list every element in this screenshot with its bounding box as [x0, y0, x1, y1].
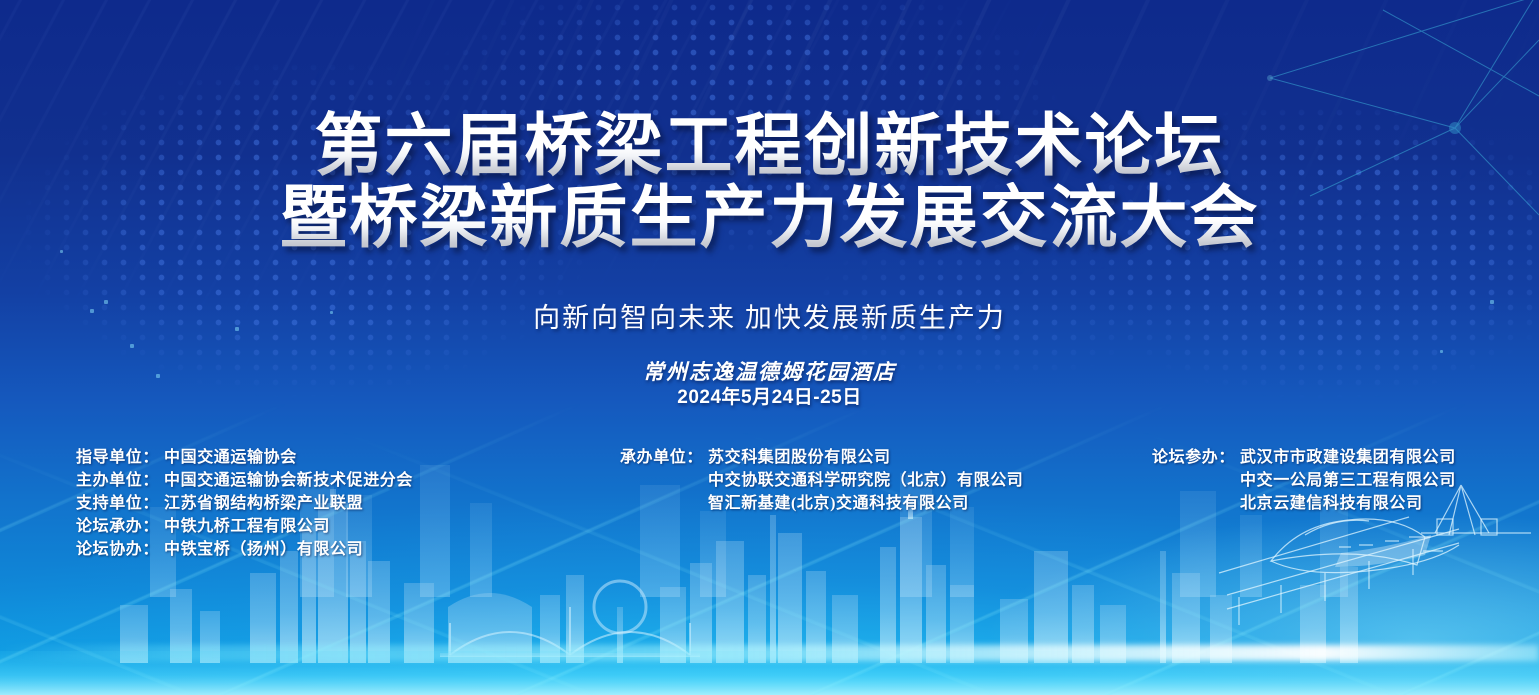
organizer-value: 中铁宝桥（扬州）有限公司 [164, 538, 363, 561]
organizer-column-middle: 承办单位： 苏交科集团股份有限公司 中交协联交通科学研究院（北京）有限公司 智汇… [620, 446, 1023, 515]
organizer-label: 支持单位： [76, 492, 164, 515]
organizer-label: 论坛协办： [76, 538, 164, 561]
organizer-label [1152, 492, 1240, 515]
organizer-row: 支持单位： 江苏省钢结构桥梁产业联盟 [76, 492, 413, 515]
title-line-2: 暨桥梁新质生产力发展交流大会 [0, 182, 1539, 254]
organizer-label: 论坛承办： [76, 515, 164, 538]
organizer-label: 指导单位： [76, 446, 164, 469]
organizer-row: 智汇新基建(北京)交通科技有限公司 [620, 492, 1023, 515]
organizer-row: 北京云建信科技有限公司 [1152, 492, 1456, 515]
organizer-label: 主办单位： [76, 469, 164, 492]
organizer-value: 中国交通运输协会 [164, 446, 297, 469]
subtitle: 向新向智向未来 加快发展新质生产力 [0, 296, 1539, 335]
organizer-column-right: 论坛参办： 武汉市市政建设集团有限公司 中交一公局第三工程有限公司 北京云建信科… [1152, 446, 1456, 515]
organizer-row: 承办单位： 苏交科集团股份有限公司 [620, 446, 1023, 469]
organizer-column-left: 指导单位： 中国交通运输协会 主办单位： 中国交通运输协会新技术促进分会 支持单… [76, 446, 413, 561]
title-line-1: 第六届桥梁工程创新技术论坛 [0, 110, 1539, 182]
organizer-value: 中交一公局第三工程有限公司 [1240, 469, 1456, 492]
organizer-value: 智汇新基建(北京)交通科技有限公司 [708, 492, 969, 515]
conference-banner: 第六届桥梁工程创新技术论坛 暨桥梁新质生产力发展交流大会 向新向智向未来 加快发… [0, 0, 1539, 695]
organizer-label [620, 469, 708, 492]
organizer-row: 中交一公局第三工程有限公司 [1152, 469, 1456, 492]
organizer-value: 中交协联交通科学研究院（北京）有限公司 [708, 469, 1023, 492]
organizer-value: 武汉市市政建设集团有限公司 [1240, 446, 1456, 469]
organizer-value: 北京云建信科技有限公司 [1240, 492, 1423, 515]
organizer-label [620, 492, 708, 515]
organizer-label: 论坛参办： [1152, 446, 1240, 469]
date-text: 2024年5月24日-25日 [0, 382, 1539, 409]
organizer-value: 苏交科集团股份有限公司 [708, 446, 891, 469]
organizer-row: 中交协联交通科学研究院（北京）有限公司 [620, 469, 1023, 492]
organizer-row: 论坛参办： 武汉市市政建设集团有限公司 [1152, 446, 1456, 469]
organizer-value: 中铁九桥工程有限公司 [164, 515, 330, 538]
organizer-row: 论坛协办： 中铁宝桥（扬州）有限公司 [76, 538, 413, 561]
organizer-row: 指导单位： 中国交通运输协会 [76, 446, 413, 469]
organizer-label: 承办单位： [620, 446, 708, 469]
organizer-row: 主办单位： 中国交通运输协会新技术促进分会 [76, 469, 413, 492]
organizer-row: 论坛承办： 中铁九桥工程有限公司 [76, 515, 413, 538]
page-title: 第六届桥梁工程创新技术论坛 暨桥梁新质生产力发展交流大会 [0, 110, 1539, 254]
organizer-label [1152, 469, 1240, 492]
organizer-value: 江苏省钢结构桥梁产业联盟 [164, 492, 363, 515]
organizer-value: 中国交通运输协会新技术促进分会 [164, 469, 413, 492]
